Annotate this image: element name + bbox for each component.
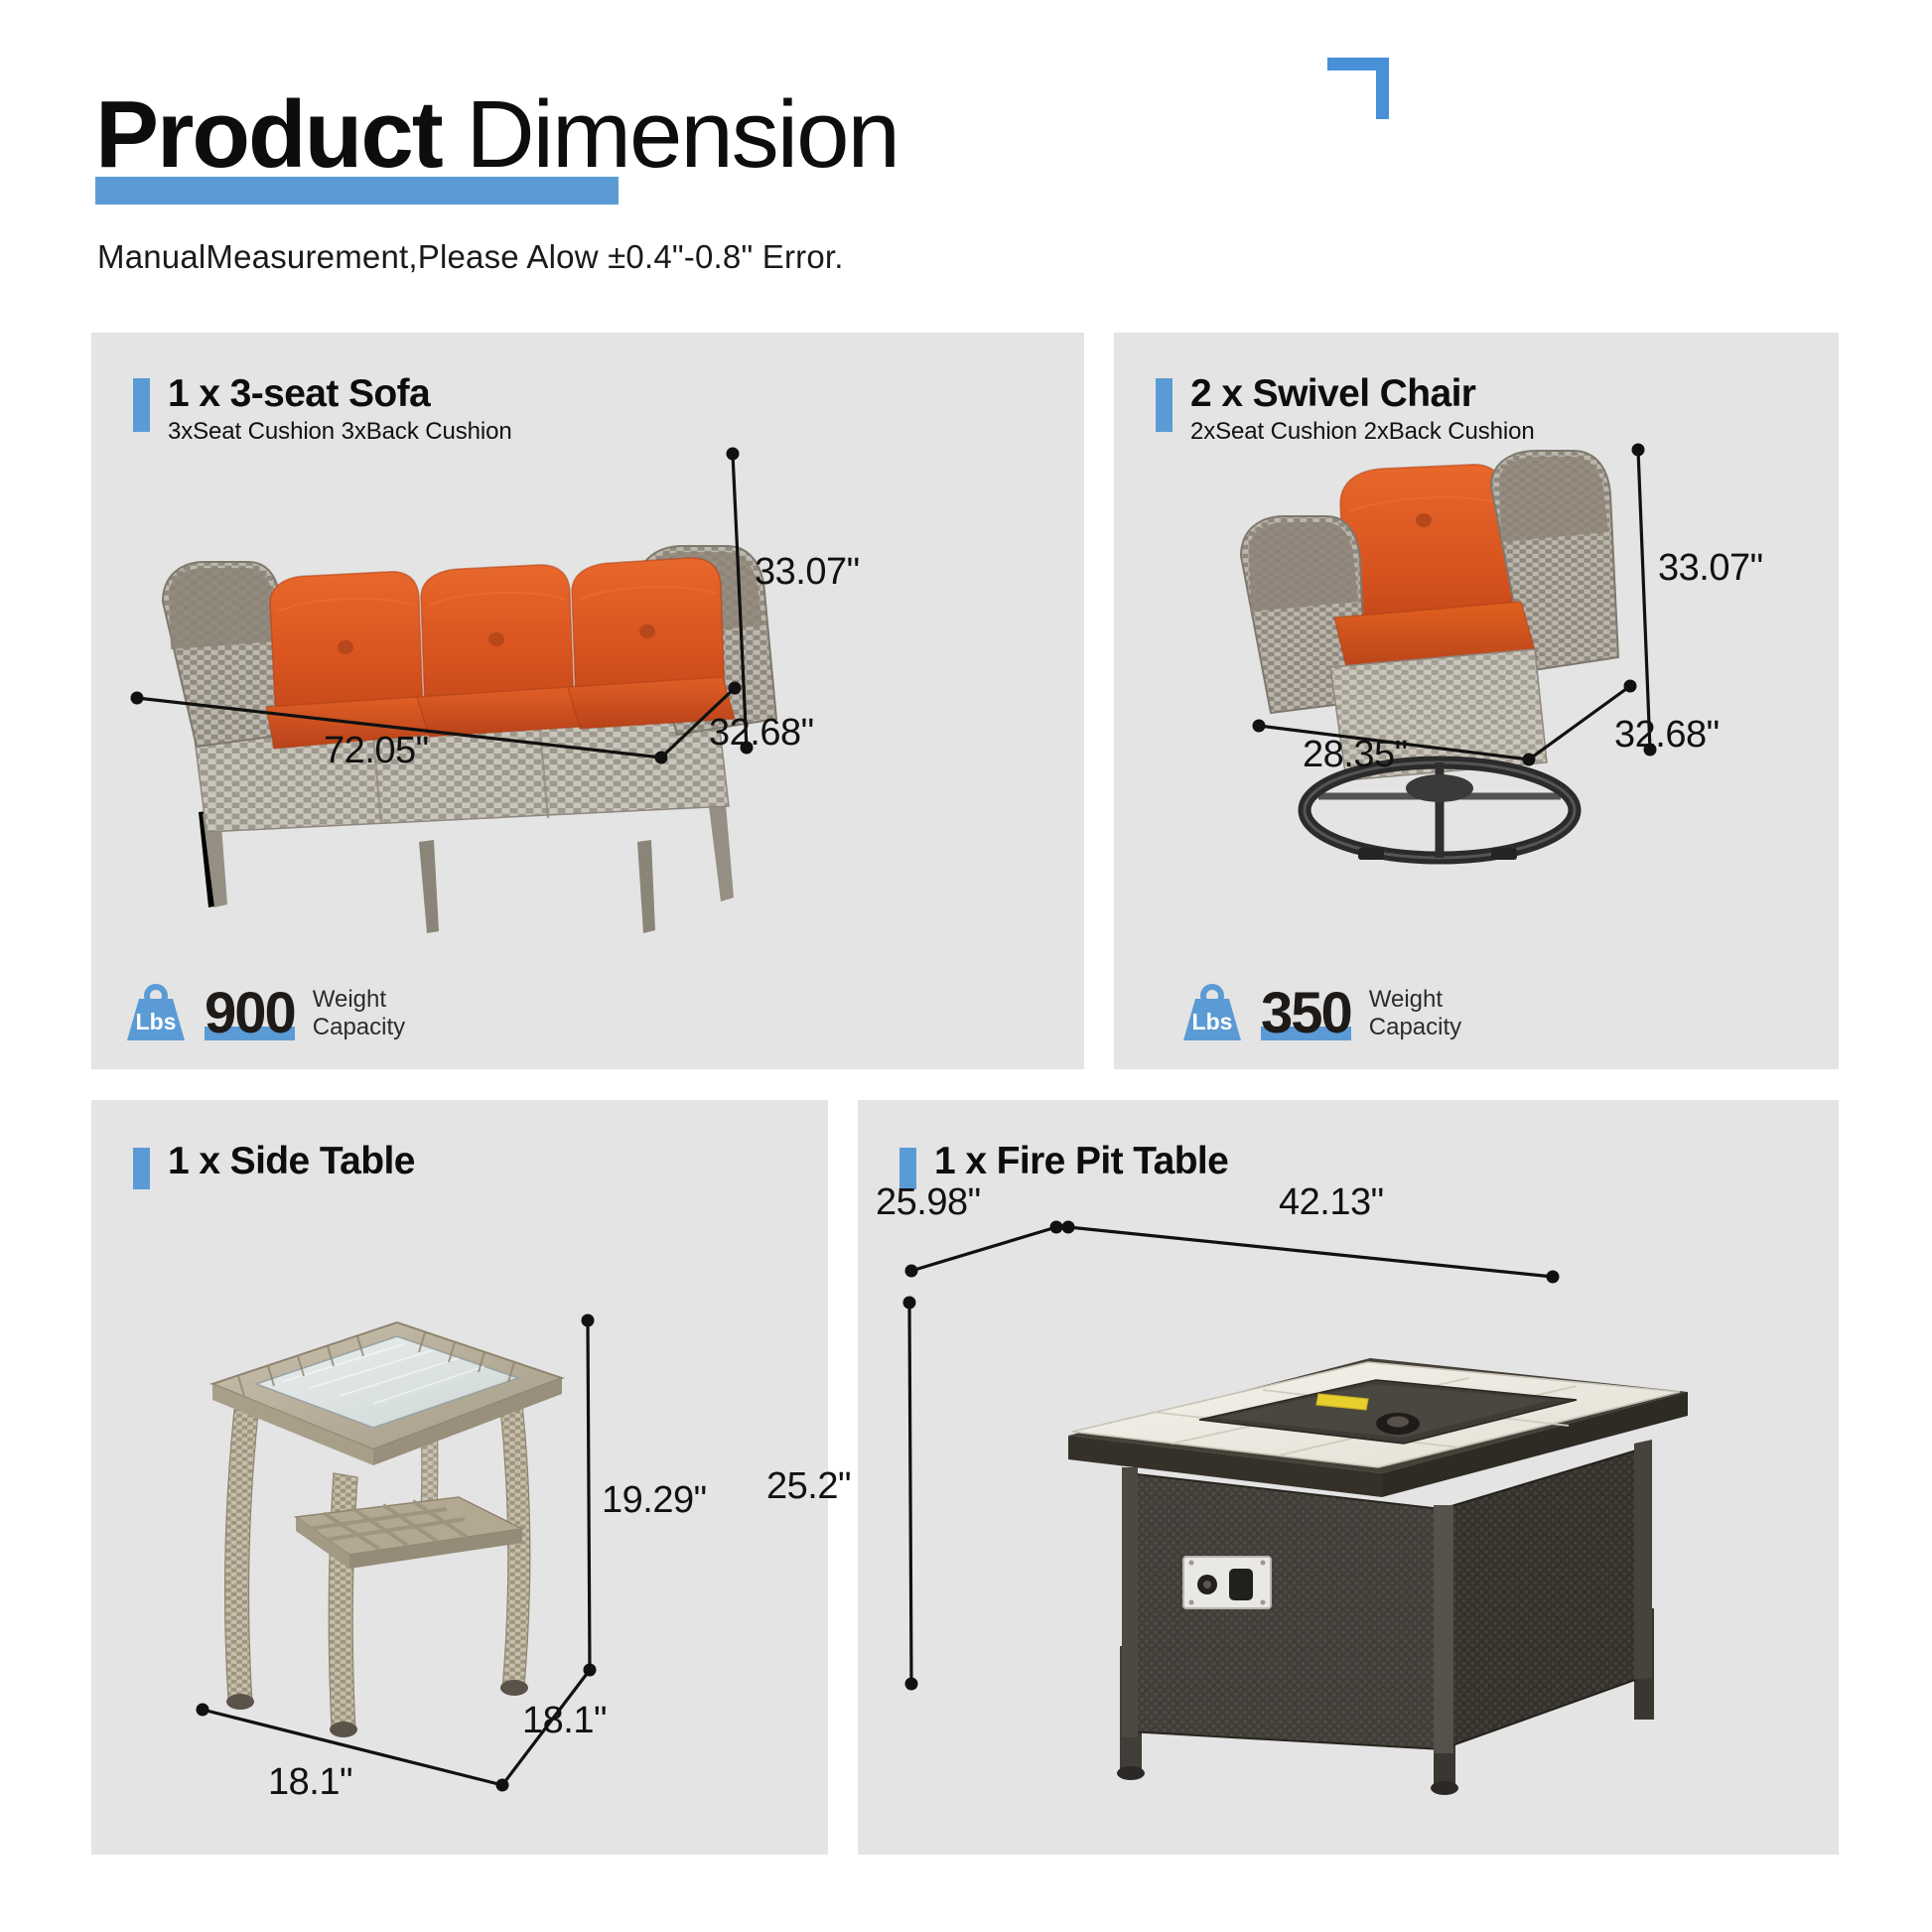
- chair-depth-label: 32.68": [1614, 714, 1720, 757]
- sofa-weight-caption: Weight Capacity: [313, 986, 405, 1042]
- chair-weight-caption-l1: Weight: [1369, 986, 1461, 1014]
- card-chair-header: 2 x Swivel Chair 2xSeat Cushion 2xBack C…: [1156, 374, 1535, 446]
- card-firepit-title: 1 x Fire Pit Table: [934, 1142, 1228, 1182]
- accent-bar-icon: [133, 378, 150, 432]
- sofa-weight-caption-l2: Capacity: [313, 1014, 405, 1041]
- card-sofa: 1 x 3-seat Sofa 3xSeat Cushion 3xBack Cu…: [91, 333, 1084, 1069]
- sidetable-depth-label: 18.1": [522, 1700, 607, 1742]
- sofa-weight-value-wrap: 900: [205, 985, 295, 1042]
- infographic-page: Product Dimension ManualMeasurement,Plea…: [0, 0, 1932, 1932]
- sofa-width-label: 72.05": [324, 730, 429, 772]
- sofa-weight-badge: Lbs 900 Weight Capacity: [121, 983, 405, 1044]
- card-sofa-header: 1 x 3-seat Sofa 3xSeat Cushion 3xBack Cu…: [133, 374, 512, 446]
- firepit-depth-label: 25.98": [876, 1181, 981, 1224]
- sofa-weight-value: 900: [205, 985, 295, 1042]
- card-chair-title: 2 x Swivel Chair: [1190, 374, 1535, 415]
- side-table-illustration: [199, 1279, 576, 1745]
- card-chair-subtitle: 2xSeat Cushion 2xBack Cushion: [1190, 418, 1535, 446]
- chair-height-label: 33.07": [1658, 547, 1763, 590]
- sofa-weight-caption-l1: Weight: [313, 986, 405, 1014]
- accent-bar-icon: [1156, 378, 1173, 432]
- weight-lbs-icon: Lbs: [1177, 983, 1247, 1044]
- sidetable-height-label: 19.29": [602, 1479, 707, 1522]
- page-subtitle: ManualMeasurement,Please Alow ±0.4"-0.8"…: [97, 238, 844, 276]
- card-sofa-title: 1 x 3-seat Sofa: [168, 374, 512, 415]
- page-header: Product Dimension ManualMeasurement,Plea…: [0, 0, 1932, 328]
- chair-weight-caption-l2: Capacity: [1369, 1014, 1461, 1041]
- page-title-light: Dimension: [442, 81, 898, 188]
- chair-weight-caption: Weight Capacity: [1369, 986, 1461, 1042]
- firepit-height-label: 25.2": [766, 1465, 851, 1508]
- weight-lbs-icon: Lbs: [121, 983, 191, 1044]
- accent-bar-icon: [133, 1148, 150, 1189]
- chair-weight-value: 350: [1261, 985, 1351, 1042]
- page-title-bold: Product: [95, 81, 442, 188]
- card-fire-pit-table: 1 x Fire Pit Table: [858, 1100, 1839, 1855]
- swivel-chair-illustration: [1223, 447, 1620, 923]
- card-swivel-chair: 2 x Swivel Chair 2xSeat Cushion 2xBack C…: [1114, 333, 1839, 1069]
- card-sidetable-header: 1 x Side Table: [133, 1142, 415, 1189]
- sofa-height-label: 33.07": [755, 551, 860, 594]
- chair-weight-badge: Lbs 350 Weight Capacity: [1177, 983, 1461, 1044]
- firepit-width-label: 42.13": [1279, 1181, 1384, 1224]
- sofa-illustration: [121, 437, 796, 953]
- card-side-table: 1 x Side Table: [91, 1100, 828, 1855]
- chair-weight-value-wrap: 350: [1261, 985, 1351, 1042]
- svg-text:Lbs: Lbs: [136, 1009, 177, 1035]
- page-title: Product Dimension: [95, 87, 898, 183]
- sofa-depth-label: 32.68": [709, 712, 814, 755]
- svg-text:Lbs: Lbs: [1192, 1009, 1233, 1035]
- corner-bracket-icon: [1327, 58, 1389, 119]
- card-sidetable-title: 1 x Side Table: [168, 1142, 415, 1182]
- chair-width-label: 28.35": [1303, 734, 1408, 776]
- sidetable-width-label: 18.1": [268, 1761, 352, 1804]
- fire-pit-table-illustration: [1033, 1348, 1688, 1795]
